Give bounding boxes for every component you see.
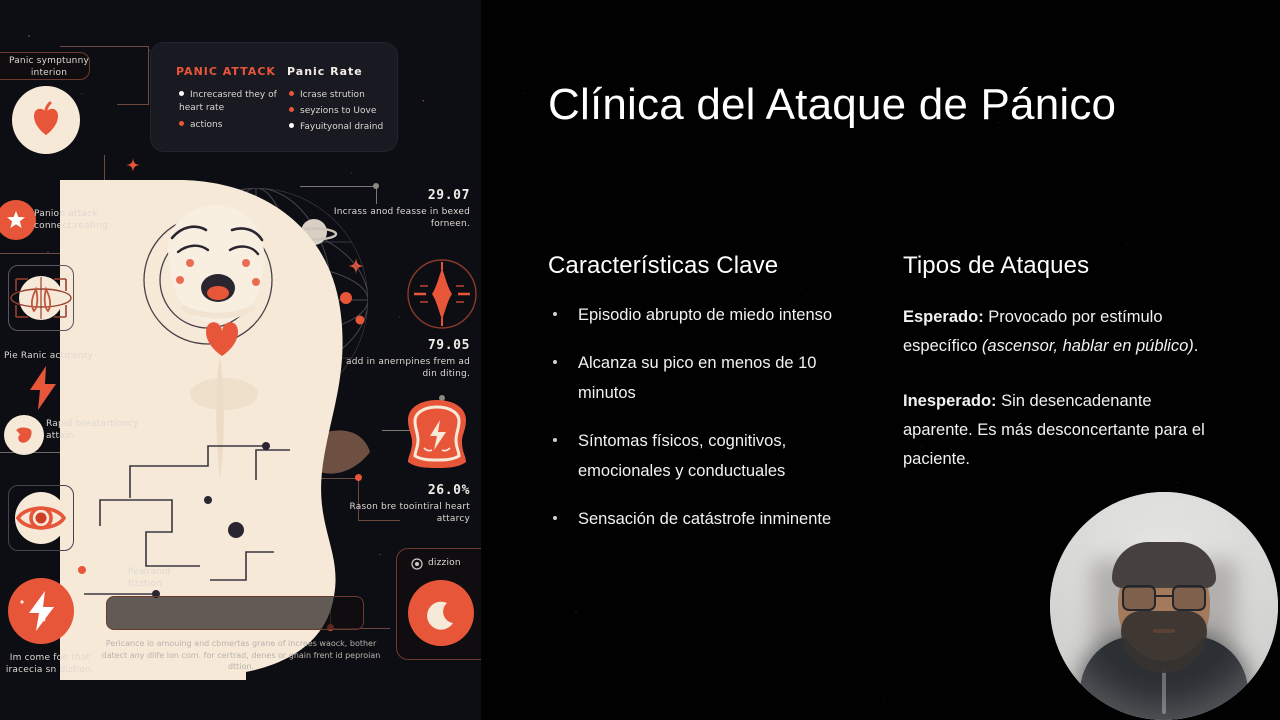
list-item: Alcanza su pico en menos de 10 minutos: [548, 348, 866, 408]
bullet-marker: [553, 312, 557, 316]
attack-types-list: Esperado: Provocado por estímulo específ…: [903, 303, 1215, 500]
lightning-circle-icon: [8, 578, 74, 644]
star-badge-icon: [0, 200, 36, 240]
paragraph-label: Inesperado:: [903, 392, 997, 410]
page-title: Clínica del Ataque de Pánico: [548, 76, 1248, 134]
legend-dot: [289, 107, 294, 112]
paragraph: Esperado: Provocado por estímulo específ…: [903, 303, 1215, 361]
legend-dot: [179, 121, 184, 126]
sparkle-icon: [126, 158, 140, 172]
stomach-icon: [4, 415, 44, 455]
legend-card: PANIC ATTACK Panic Rate Increcasred they…: [150, 42, 398, 152]
stat-value: 26.0%: [330, 483, 470, 498]
legend-title-left: PANIC ATTACK: [176, 65, 276, 78]
legend-dot: [289, 123, 294, 128]
dizzion-label: dizzion: [428, 557, 481, 569]
rapid-breath-label: Rapid breatartioncy attain,: [46, 418, 150, 442]
presenter-webcam[interactable]: [1050, 492, 1278, 720]
presentation-slide: PANIC ATTACK Panic Rate Increcasred they…: [0, 0, 1280, 720]
paragraph-label: Esperado:: [903, 308, 984, 326]
legend-item: Fayuityonal draind: [289, 121, 383, 134]
legend-item: seyzions to Uove: [289, 105, 376, 118]
pie-ranic-label: Pie Ranic acticenty: [4, 350, 124, 362]
stat-value: 29.07: [330, 188, 470, 203]
legend-dot: [179, 91, 184, 96]
im-come-foe-label: Im come foe that iracecia sn diztion,: [0, 652, 102, 676]
stat-caption: Rason bre toointiral heart attarcy: [330, 501, 470, 525]
bullet-marker: [553, 438, 557, 442]
right-column-heading: Tipos de Ataques: [903, 250, 1233, 282]
stat-value: 79.05: [330, 338, 470, 353]
list-item: Episodio abrupto de miedo intenso: [548, 300, 866, 330]
infographic-panel: PANIC ATTACK Panic Rate Increcasred they…: [0, 0, 481, 720]
list-item: Sensación de catástrofe inminente: [548, 504, 866, 534]
list-item-text: Sensación de catástrofe inminente: [578, 510, 831, 528]
waveform-icon: [406, 258, 478, 335]
legend-item: Increcasred they of heart rate: [179, 89, 279, 115]
bolt-icon: [26, 366, 60, 410]
stat-caption: Incrass anod feasse in bexed forneen.: [330, 206, 470, 230]
left-column-heading: Características Clave: [548, 250, 878, 282]
heart-icon: [12, 86, 80, 154]
paragraph-tail: .: [1194, 337, 1199, 355]
legend-title-right: Panic Rate: [287, 65, 363, 78]
bullet-marker: [553, 360, 557, 364]
pewraoid-label: Pewraoid fizztion: [128, 566, 198, 590]
panic-symptom-label: Panic symptunny interion: [0, 55, 108, 79]
legend-item: Icrase strution: [289, 89, 365, 102]
key-features-list: Episodio abrupto de miedo intenso Alcanz…: [548, 300, 866, 552]
list-item-text: Episodio abrupto de miedo intenso: [578, 306, 832, 324]
legend-dot: [289, 91, 294, 96]
eye-icon: [8, 485, 74, 551]
list-item-text: Alcanza su pico en menos de 10 minutos: [578, 354, 817, 402]
legend-item: actions: [179, 119, 222, 132]
list-item: Síntomas físicos, cognitivos, emocionale…: [548, 426, 866, 486]
target-small-icon: [411, 557, 423, 575]
moon-icon: [408, 580, 474, 646]
bullet-marker: [553, 516, 557, 520]
shield-bolt-icon: [404, 398, 470, 475]
paragraph-italic: (ascensor, hablar en público): [982, 337, 1194, 355]
webcam-vignette: [1050, 492, 1278, 720]
paragraph: Inesperado: Sin desencadenante aparente.…: [903, 387, 1215, 474]
panion-attack-label: Panion attack connect:reating: [34, 208, 146, 232]
lungs-icon: [8, 265, 74, 331]
list-item-text: Síntomas físicos, cognitivos, emocionale…: [578, 432, 786, 480]
caption-chip: [106, 596, 364, 630]
stat-caption: add in anernpines frem ad din diting.: [330, 356, 470, 380]
infographic-caption: Pericance io amouing and cbmertas grane …: [96, 638, 386, 673]
